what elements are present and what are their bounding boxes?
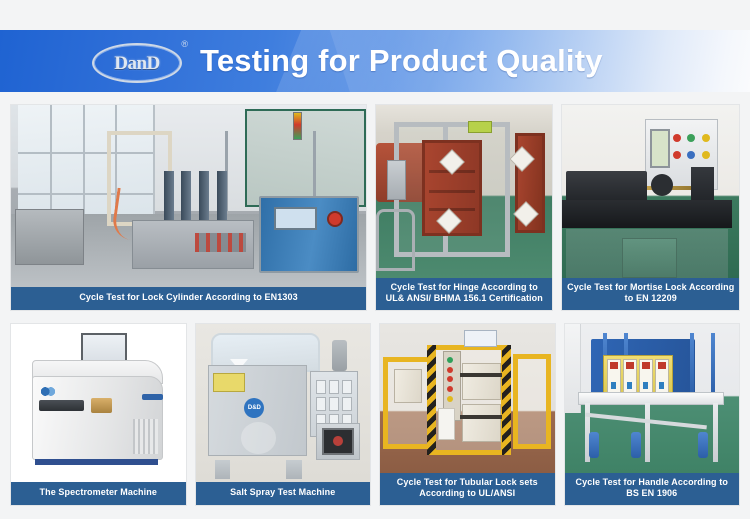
photo-salt-spray-chamber: D&D	[196, 324, 371, 482]
scene-tubular-rigs	[380, 324, 555, 473]
caption-hinge: Cycle Test for Hinge According to UL& AN…	[376, 278, 553, 310]
photo-handle-test-bench	[565, 324, 740, 473]
registered-trademark-icon: ®	[181, 40, 188, 49]
caption-mortise-lock: Cycle Test for Mortise Lock According to…	[562, 278, 739, 310]
photo-mortise-lock-bench	[562, 105, 739, 278]
gallery-card-lock-cylinder[interactable]: Cycle Test for Lock Cylinder According t…	[10, 104, 367, 311]
photo-lock-cylinder-lab	[11, 105, 366, 287]
caption-tubular-lockset: Cycle Test for Tubular Lock sets Accordi…	[380, 473, 555, 505]
scene-spectrometer	[11, 324, 186, 482]
scene-factory-lab	[11, 105, 366, 287]
gallery-row-top: Cycle Test for Lock Cylinder According t…	[10, 104, 740, 311]
gallery-card-spectrometer[interactable]: The Spectrometer Machine	[10, 323, 187, 506]
gallery-card-hinge[interactable]: Cycle Test for Hinge According to UL& AN…	[375, 104, 554, 311]
logo-text: DanD	[114, 54, 160, 73]
gallery-card-tubular-lockset[interactable]: Cycle Test for Tubular Lock sets Accordi…	[379, 323, 556, 506]
caption-salt-spray: Salt Spray Test Machine	[196, 482, 371, 505]
brand-logo: DanD ®	[92, 40, 188, 82]
caption-handle: Cycle Test for Handle According to BS EN…	[565, 473, 740, 505]
caption-lock-cylinder: Cycle Test for Lock Cylinder According t…	[11, 287, 366, 310]
scene-mortise-bench	[562, 105, 739, 278]
gallery-grid: Cycle Test for Lock Cylinder According t…	[10, 104, 740, 506]
gallery-card-mortise-lock[interactable]: Cycle Test for Mortise Lock According to…	[561, 104, 740, 311]
scene-salt-spray: D&D	[196, 324, 371, 482]
gallery-row-bottom: The Spectrometer Machine D&D	[10, 323, 740, 506]
gallery-card-salt-spray[interactable]: D&D Salt Spray Test Machine	[195, 323, 372, 506]
scene-hinge-rig	[376, 105, 553, 278]
photo-hinge-test-rig	[376, 105, 553, 278]
scene-handle-bench	[565, 324, 740, 473]
logo-oval-shape: DanD	[92, 43, 182, 83]
caption-spectrometer: The Spectrometer Machine	[11, 482, 186, 505]
page-title: Testing for Product Quality	[200, 43, 603, 79]
photo-tubular-lockset-rigs	[380, 324, 555, 473]
photo-spectrometer	[11, 324, 186, 482]
gallery-card-handle[interactable]: Cycle Test for Handle According to BS EN…	[564, 323, 741, 506]
page-header-banner: DanD ® Testing for Product Quality	[0, 30, 750, 92]
